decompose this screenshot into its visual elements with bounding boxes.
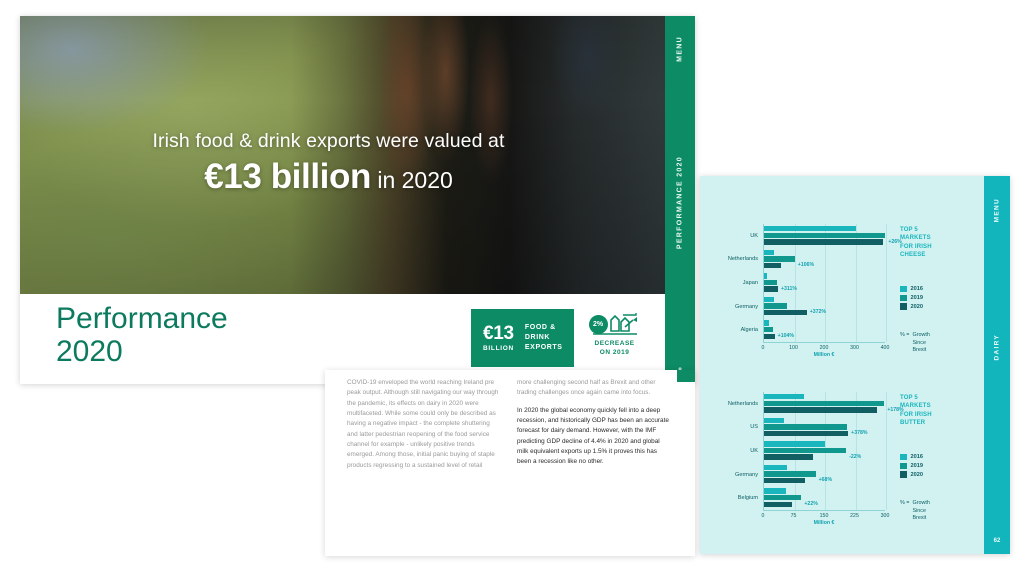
chart-cheese-side-info: TOP 5MARKETSFOR IRISHCHEESE 201620192020… [900, 226, 980, 355]
chart-butter-legend: 201620192020 [900, 454, 980, 478]
sidebar-section-label[interactable]: PERFORMANCE 2020 [677, 156, 684, 249]
chart-bar [764, 465, 787, 470]
annotation-line: Growth [912, 332, 929, 340]
chart-category-label: Belgium [700, 486, 762, 510]
chart-bar [764, 280, 777, 285]
chart-title-line: TOP 5 [900, 394, 980, 402]
chart-cheese: UKNetherlandsJapanGermanyAlgeria +26%+10… [700, 220, 985, 355]
exports-value-badge: €13 BILLION FOOD & DRINK EXPORTS [471, 309, 574, 367]
text-column-right: more challenging second half as Brexit a… [517, 378, 669, 478]
paragraph: COVID-19 enveloped the world reaching Ir… [347, 378, 499, 471]
chart-bar [764, 424, 847, 429]
chart-title-line: FOR IRISH [900, 243, 980, 251]
exports-amount-value: €13 [483, 324, 514, 343]
chart-bar [764, 320, 769, 325]
chart-butter-title: TOP 5MARKETSFOR IRISHBUTTER [900, 394, 980, 428]
chart-x-tick: 400 [881, 345, 890, 351]
chart-bar [764, 418, 784, 423]
chart-butter: NetherlandsUSUKGermanyBelgium +178%+378%… [700, 388, 985, 523]
chart-bar [764, 303, 787, 308]
chart-legend-item: 2016 [900, 286, 980, 293]
legend-swatch [900, 303, 907, 310]
legend-label: 2016 [911, 286, 923, 292]
annotation-line: Brexit [912, 515, 929, 523]
chart-cheese-title: TOP 5MARKETSFOR IRISHCHEESE [900, 226, 980, 260]
chart-growth-label: +106% [798, 262, 814, 268]
chart-legend-item: 2019 [900, 295, 980, 302]
slide-dairy-text[interactable]: COVID-19 enveloped the world reaching Ir… [325, 370, 695, 556]
legend-label: 2020 [911, 304, 923, 310]
decrease-percent: 2% [589, 315, 608, 334]
chart-bar [764, 273, 767, 278]
chart-category-label: Netherlands [700, 248, 762, 272]
chart-category-label: Japan [700, 271, 762, 295]
decrease-caption-line2: ON 2019 [584, 348, 646, 357]
chart-x-tick: 300 [881, 513, 890, 519]
chart-bar [764, 394, 804, 399]
text-page-sidebar-stub [677, 370, 695, 382]
chart-title-line: MARKETS [900, 234, 980, 242]
chart-growth-label: -22% [849, 454, 861, 460]
chart-cheese-x-label: Million € [763, 352, 885, 358]
chart-category-label: Germany [700, 295, 762, 319]
chart-bar [764, 471, 816, 476]
slide-performance-hero[interactable]: Irish food & drink exports were valued a… [20, 16, 695, 384]
slide-dairy-charts[interactable]: UKNetherlandsJapanGermanyAlgeria +26%+10… [700, 176, 1010, 554]
exports-label-line2: DRINK [525, 333, 563, 343]
chart-gridline [886, 224, 887, 342]
chart-legend-item: 2016 [900, 454, 980, 461]
page-number: 62 [984, 538, 1010, 544]
legend-swatch [900, 463, 907, 470]
annotation-line: Growth [912, 500, 929, 508]
chart-category-label: Germany [700, 463, 762, 487]
exports-label-line3: EXPORTS [525, 343, 563, 353]
annotation-prefix: % = [900, 500, 909, 523]
decrease-caption-line1: DECREASE [584, 339, 646, 348]
text-columns: COVID-19 enveloped the world reaching Ir… [347, 378, 669, 478]
hero-headline-block: Irish food & drink exports were valued a… [20, 130, 665, 197]
hero-headline-line2: €13 billion in 2020 [20, 157, 637, 197]
chart-bar [764, 239, 883, 244]
chart-bar [764, 256, 795, 261]
chart-butter-x-label: Million € [763, 520, 885, 526]
chart-bar [764, 488, 786, 493]
chart-bar [764, 454, 813, 459]
chart-legend-item: 2020 [900, 471, 980, 478]
chart-bar-group: +378% [764, 416, 885, 440]
chart-bar [764, 448, 846, 453]
exports-amount-unit: BILLION [483, 346, 514, 353]
chart-bar [764, 297, 774, 302]
declining-chart-icon: 2% [589, 311, 641, 337]
chart-x-tick: 200 [820, 345, 829, 351]
chart-category-label: US [700, 416, 762, 440]
annotation-lines: GrowthSinceBrexit [912, 332, 929, 355]
legend-swatch [900, 295, 907, 302]
chart-x-tick: 0 [762, 513, 765, 519]
paragraph: In 2020 the global economy quickly fell … [517, 406, 669, 468]
annotation-line: Brexit [912, 347, 929, 355]
chart-bar-group: +26% [764, 224, 885, 248]
chart-legend-item: 2019 [900, 463, 980, 470]
exports-label-line1: FOOD & [525, 323, 563, 333]
chart-title-line: CHEESE [900, 251, 980, 259]
chart-x-tick: 225 [850, 513, 859, 519]
chart-growth-label: +311% [781, 286, 797, 292]
chart-bar [764, 334, 775, 339]
chart-bar [764, 250, 774, 255]
exports-amount: €13 BILLION [483, 324, 514, 353]
legend-swatch [900, 286, 907, 293]
annotation-lines: GrowthSinceBrexit [912, 500, 929, 523]
chart-bar-group: +372% [764, 295, 885, 319]
chart-x-tick: 0 [762, 345, 765, 351]
stat-badge-row: €13 BILLION FOOD & DRINK EXPORTS [471, 309, 646, 367]
chart-bar [764, 495, 801, 500]
text-column-left: COVID-19 enveloped the world reaching Ir… [347, 378, 499, 478]
chart-bar-group: +22% [764, 486, 885, 510]
chart-growth-label: +68% [819, 477, 832, 483]
chart-bar [764, 286, 778, 291]
exports-label: FOOD & DRINK EXPORTS [525, 323, 563, 353]
chart-butter-bars: +178%+378%-22%+68%+22% [763, 392, 885, 510]
chart-growth-label: +104% [778, 333, 794, 339]
chart-cheese-legend: 201620192020 [900, 286, 980, 310]
legend-label: 2016 [911, 454, 923, 460]
legend-swatch [900, 471, 907, 478]
chart-bar [764, 263, 781, 268]
chart-bar [764, 407, 877, 412]
chart-cheese-annotation: % = GrowthSinceBrexit [900, 332, 980, 355]
hero-value: €13 billion [204, 157, 371, 196]
chart-bar [764, 327, 773, 332]
chart-category-label: Algeria [700, 318, 762, 342]
chart-category-label: UK [700, 224, 762, 248]
sidebar-menu-button[interactable]: MENU [994, 198, 1001, 222]
chart-x-tick: 150 [820, 513, 829, 519]
sidebar-menu-button[interactable]: MENU [677, 36, 684, 62]
chart-bar-group: -22% [764, 439, 885, 463]
hero-photograph: Irish food & drink exports were valued a… [20, 16, 665, 294]
chart-bar [764, 233, 885, 238]
chart-x-tick: 75 [791, 513, 797, 519]
chart-title-line: TOP 5 [900, 226, 980, 234]
dairy-sidebar[interactable]: MENU DAIRY 62 [984, 176, 1010, 554]
chart-title-line: FOR IRISH [900, 411, 980, 419]
chart-growth-label: +22% [804, 501, 817, 507]
chart-bar [764, 431, 848, 436]
chart-category-label: Netherlands [700, 392, 762, 416]
chart-bar-group: +104% [764, 318, 885, 342]
chart-butter-category-labels: NetherlandsUSUKGermanyBelgium [700, 392, 762, 510]
legend-label: 2019 [911, 295, 923, 301]
hero-sidebar[interactable]: MENU PERFORMANCE 2020 8 [665, 16, 695, 384]
screenshot-canvas: Irish food & drink exports were valued a… [0, 0, 1024, 576]
page-title-line2: 2020 [56, 335, 228, 368]
annotation-line: Since [912, 340, 929, 348]
chart-bar [764, 310, 807, 315]
hero-year-suffix: in 2020 [371, 167, 453, 193]
chart-category-label: UK [700, 439, 762, 463]
chart-bar [764, 502, 792, 507]
chart-growth-label: +372% [810, 309, 826, 315]
decrease-badge: 2% DECREASE ON 2019 [584, 309, 646, 367]
chart-title-line: MARKETS [900, 402, 980, 410]
annotation-prefix: % = [900, 332, 909, 355]
chart-bar-group: +68% [764, 463, 885, 487]
chart-cheese-category-labels: UKNetherlandsJapanGermanyAlgeria [700, 224, 762, 342]
legend-label: 2020 [911, 472, 923, 478]
chart-x-tick: 100 [789, 345, 798, 351]
chart-cheese-bars: +26%+106%+311%+372%+104% [763, 224, 885, 342]
chart-butter-side-info: TOP 5MARKETSFOR IRISHBUTTER 201620192020… [900, 394, 980, 523]
annotation-line: Since [912, 508, 929, 516]
page-title-line1: Performance [56, 302, 228, 335]
chart-title-line: BUTTER [900, 419, 980, 427]
chart-legend-item: 2020 [900, 303, 980, 310]
chart-butter-annotation: % = GrowthSinceBrexit [900, 500, 980, 523]
decrease-caption: DECREASE ON 2019 [584, 339, 646, 357]
chart-bar [764, 226, 856, 231]
sidebar-section-label[interactable]: DAIRY [994, 334, 1001, 360]
chart-bar [764, 441, 825, 446]
chart-bar [764, 401, 884, 406]
hero-headline-line1: Irish food & drink exports were valued a… [20, 130, 637, 153]
chart-bar-group: +311% [764, 271, 885, 295]
chart-x-tick: 300 [850, 345, 859, 351]
chart-growth-label: +378% [851, 430, 867, 436]
paragraph: more challenging second half as Brexit a… [517, 378, 669, 399]
legend-swatch [900, 454, 907, 461]
chart-bar-group: +178% [764, 392, 885, 416]
chart-bar [764, 478, 805, 483]
page-title: Performance 2020 [56, 302, 228, 368]
legend-label: 2019 [911, 463, 923, 469]
chart-bar-group: +106% [764, 248, 885, 272]
